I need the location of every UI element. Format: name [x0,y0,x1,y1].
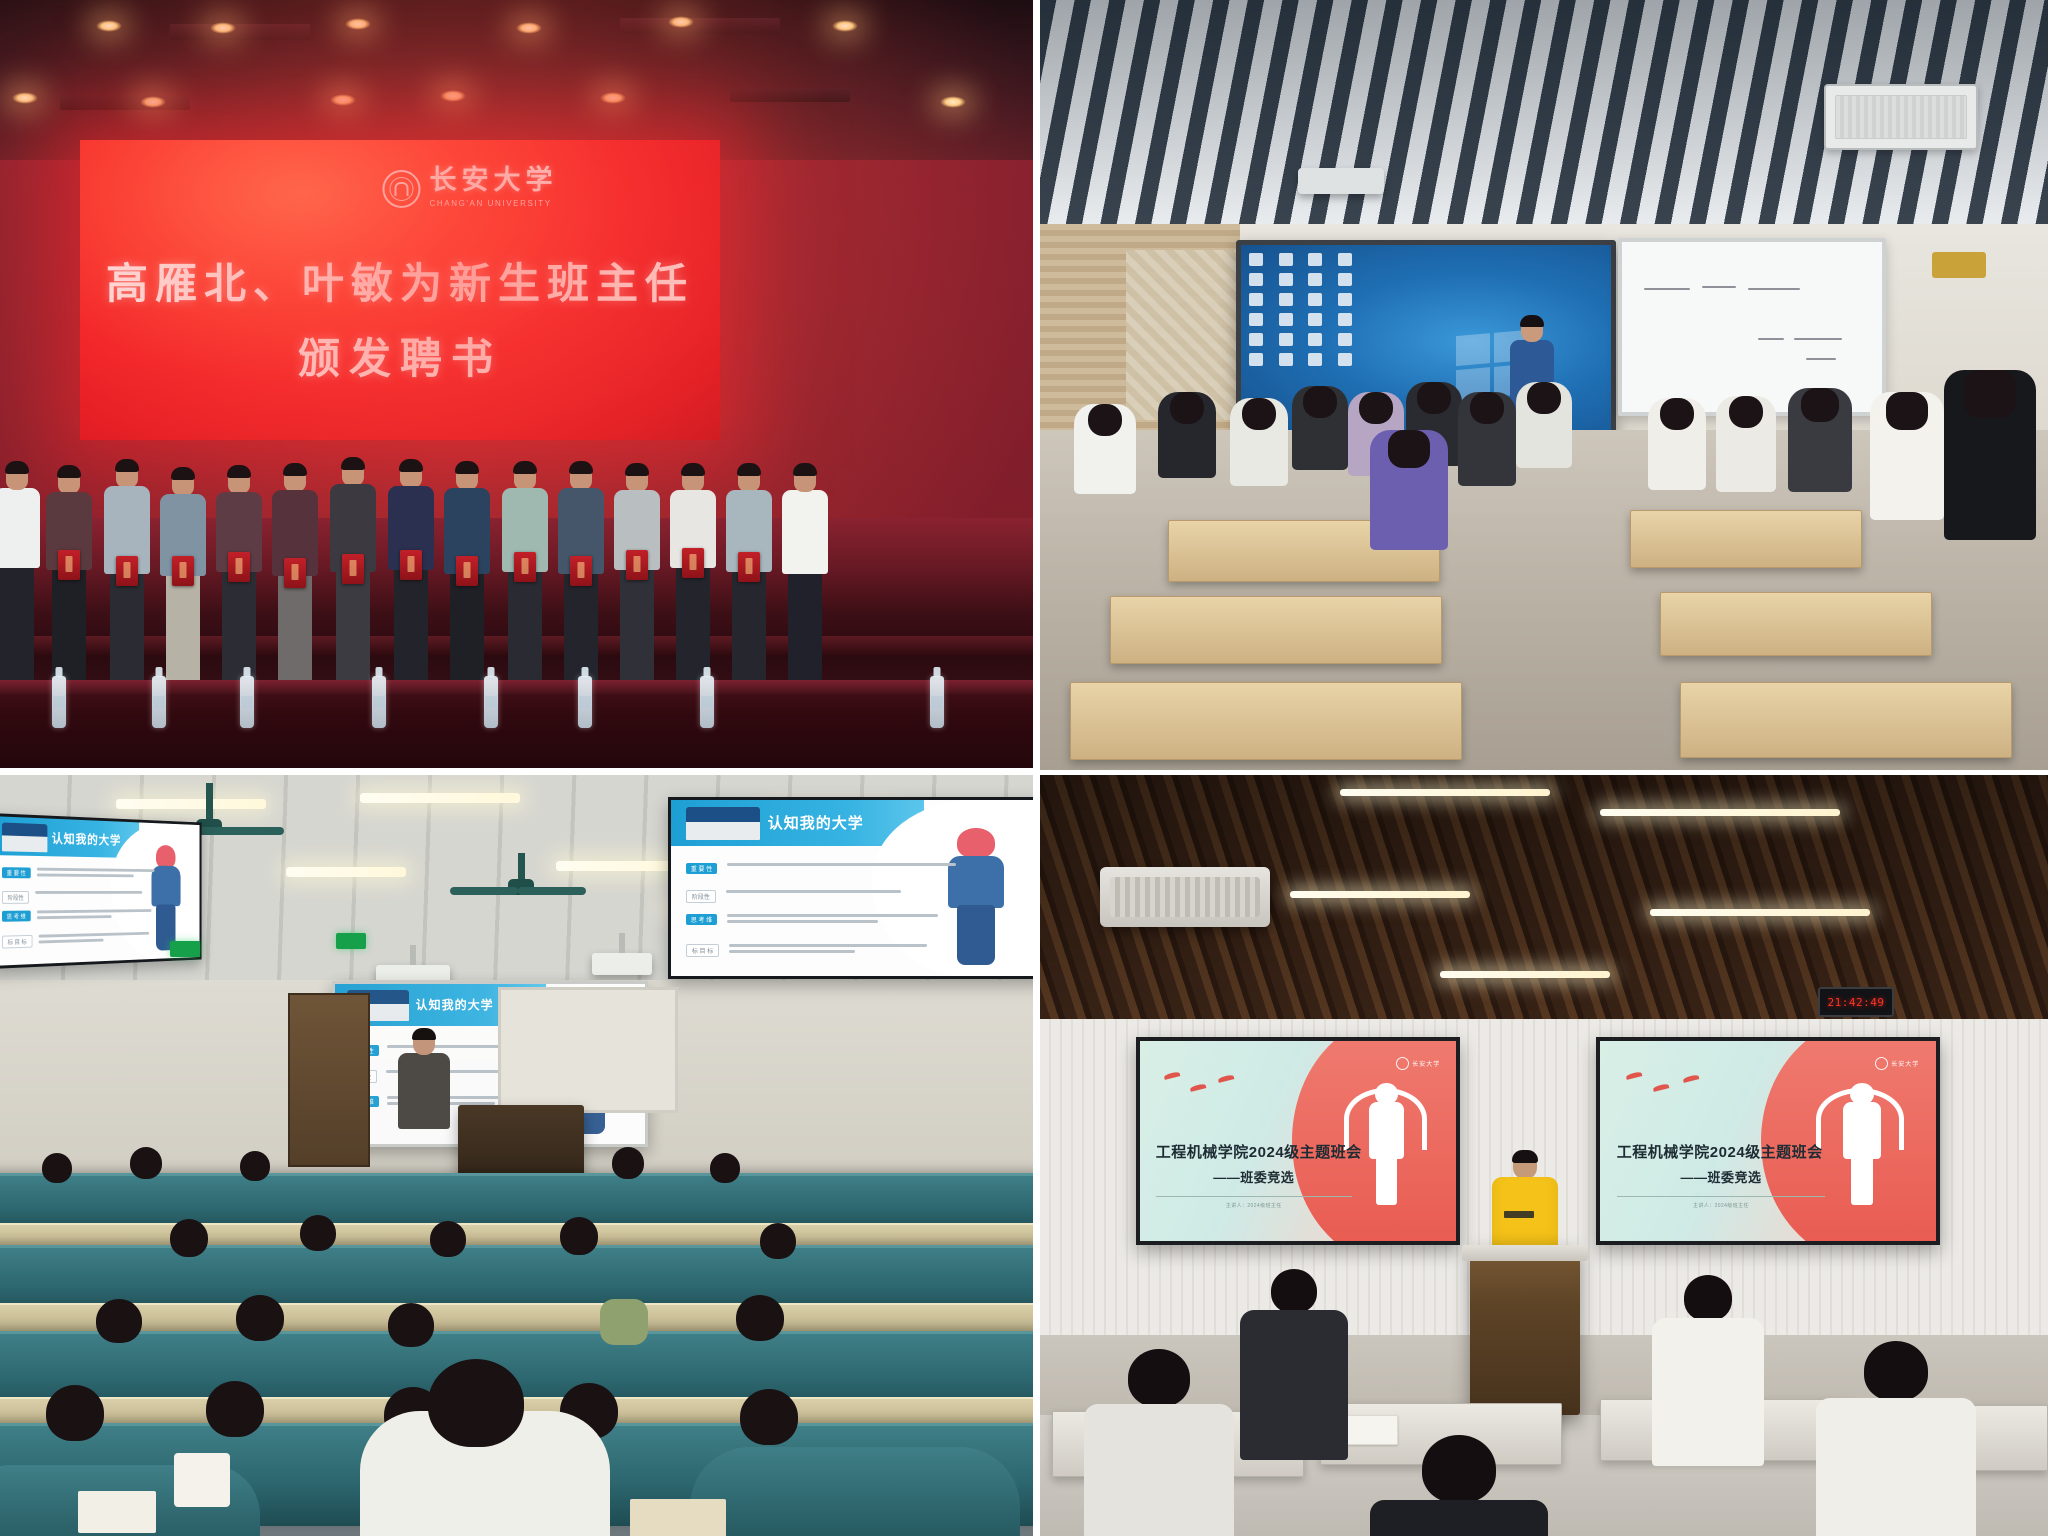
student-head [710,1153,740,1183]
person [46,468,92,680]
student-head [430,1221,466,1257]
ceiling-light [360,793,520,803]
slide-row: 思 考 维 [686,914,1028,926]
projection-screen-left: 长安大学 工程机械学院2024级主题班会 ——班委竞选 主讲人：2024级班主任 [1136,1037,1460,1245]
slide-title-line2: ——班委竞选 [1156,1167,1352,1186]
photo-panel-award-ceremony: 长安大学 CHANG'AN UNIVERSITY 高雁北、叶敏为新生班主任 颁发… [0,0,1033,768]
bird-icons [1624,1065,1738,1109]
ceiling-light [668,16,694,28]
student-desk [1110,596,1442,664]
photo-panel-lecture-hall: 认知我的大学 重 要 性 阶段性 思 考 维 标 目 标 [0,775,1033,1536]
ceiling-light [516,22,542,34]
student-head [96,1299,142,1343]
person [614,466,660,680]
slide-figure-illustration [1829,1081,1896,1205]
person [558,464,604,680]
ceiling-air-vent [1100,867,1270,927]
ceiling [0,0,1033,160]
slide-title: 认知我的大学 [52,828,121,848]
student [1458,392,1516,486]
air-conditioner [1824,84,1978,150]
student-head [736,1295,784,1341]
clock-time: 21:42:49 [1828,996,1885,1009]
graduation-cap-icon [686,807,760,840]
water-bottle [240,676,254,728]
graduation-cap-icon [2,822,47,851]
tissue-box [174,1453,230,1507]
student-torso [600,1299,648,1345]
student-head [130,1147,162,1179]
ceiling-strip-light [1650,909,1870,916]
student-head [46,1385,104,1441]
slide-title: 认知我的大学 [768,812,864,833]
student [1648,398,1706,490]
photo-collage: 长安大学 CHANG'AN UNIVERSITY 高雁北、叶敏为新生班主任 颁发… [0,0,2048,1536]
water-bottle [52,676,66,728]
slide-row-tag: 思 考 维 [686,914,717,925]
led-screen: 长安大学 CHANG'AN UNIVERSITY 高雁北、叶敏为新生班主任 颁发… [80,140,720,440]
slide-row-tag: 重 要 性 [686,863,717,874]
audience-member [1240,1269,1348,1460]
slide-row-tag: 标 目 标 [2,935,32,949]
university-seal-icon [1875,1057,1888,1070]
student [1788,388,1852,492]
ceiling-strip-light [1440,971,1610,978]
ceiling-light [12,92,38,104]
slide-title-block: 工程机械学院2024级主题班会 ——班委竞选 主讲人：2024级班主任 [1617,1141,1825,1209]
student-head [236,1295,284,1341]
university-seal-icon [1396,1057,1409,1070]
audience-member [1370,1435,1548,1536]
slide-rule [1156,1196,1352,1197]
slide-row-tag: 阶段性 [686,890,716,903]
ceiling-light [345,18,371,30]
ceiling-panel [170,24,310,40]
student-desk [1660,592,1932,656]
slide-title: 认知我的大学 [416,996,494,1013]
slide-row-tag: 重 要 性 [2,867,30,878]
ceiling-light [140,96,166,108]
university-seal-icon [383,170,421,208]
ceiling-light [600,92,626,104]
slide-logo-text: 长安大学 [1412,1059,1440,1068]
water-bottle [930,676,944,728]
digital-wall-clock: 21:42:49 [1818,987,1894,1017]
ceiling-strip-light [1600,809,1840,816]
slide-figure-illustration [1355,1081,1418,1205]
student [1370,430,1448,550]
lectern [1470,1245,1580,1415]
desktop-icons[interactable] [1249,253,1361,366]
person [444,464,490,680]
student-head [388,1303,434,1347]
student-head [300,1215,336,1251]
ceremony-title-line2: 颁发聘书 [80,325,720,386]
ceiling-fan [508,853,534,895]
student-head [560,1217,598,1255]
person [272,466,318,680]
slide-row-tag: 思 考 维 [2,910,30,921]
slide-title-line1: 工程机械学院2024级主题班会 [1156,1141,1352,1162]
projection-screen-right: 长安大学 工程机械学院2024级主题班会 ——班委竞选 主讲人：2024级班主任 [1596,1037,1940,1245]
slide-title-block: 工程机械学院2024级主题班会 ——班委竞选 主讲人：2024级班主任 [1156,1141,1352,1209]
exit-sign [170,941,200,957]
student-head [170,1219,208,1257]
display-panel-right: 认知我的大学 重 要 性 阶段性 思 考 维 标 目 标 [668,797,1033,979]
notebook [630,1499,726,1536]
shirt-print [1504,1211,1534,1218]
student [1230,398,1288,486]
student-head [612,1147,644,1179]
student-desk [1070,682,1462,760]
student-head [240,1151,270,1181]
person [502,464,548,680]
person [782,466,828,680]
student [1870,392,1944,520]
class-meeting-slide: 长安大学 工程机械学院2024级主题班会 ——班委竞选 主讲人：2024级班主任 [1140,1041,1456,1241]
ceiling-light [210,22,236,34]
presenter [1492,1153,1558,1249]
slide-title-line1: 工程机械学院2024级主题班会 [1617,1141,1825,1162]
student-head [740,1389,798,1445]
ceremony-title: 高雁北、叶敏为新生班主任 颁发聘书 [80,250,720,386]
person [104,462,150,680]
ceiling-vent [730,88,850,102]
student [1292,386,1348,470]
ceiling-light [286,867,406,877]
university-name-cn: 长安大学 [430,165,558,195]
whiteboard [1618,238,1886,416]
student-head [42,1153,72,1183]
person [726,466,772,680]
university-logo: 长安大学 [1875,1057,1919,1070]
person [216,468,262,680]
slide-row: 阶段性 [686,890,1028,903]
audience-member [1084,1349,1234,1536]
ceiling-light [556,861,686,871]
student [1516,382,1572,468]
water-bottle [372,676,386,728]
water-bottle [484,676,498,728]
slide-footnote: 主讲人：2024级班主任 [1156,1202,1352,1209]
ceiling-vent [60,96,190,110]
whiteboard [498,987,678,1113]
water-bottle [578,676,592,728]
audience-member [1652,1275,1764,1466]
student [1074,404,1136,494]
ceiling-light [940,96,966,108]
foreground-student-head [428,1359,524,1447]
slide-row: 阶段性 [2,891,192,904]
ceiling-strip-light [1340,789,1550,796]
ceiling-light [116,799,266,809]
ceiling-light [440,90,466,102]
student-head [206,1381,264,1437]
seat-foreground [690,1447,1020,1536]
ceiling-projector [592,953,652,975]
student [1944,370,2036,540]
person [160,470,206,680]
slide-row-tag: 阶段性 [2,891,29,904]
slide-row: 重 要 性 [2,867,192,880]
slide-rule [1617,1196,1825,1197]
person [388,462,434,680]
wall-speaker [1932,252,1986,278]
person [0,464,40,680]
class-meeting-slide: 长安大学 工程机械学院2024级主题班会 ——班委竞选 主讲人：2024级班主任 [1600,1041,1936,1241]
slide-row-tag: 标 目 标 [686,944,719,957]
photo-panel-class-meeting: 21:42:49 长安大学 工程机械学院2024级主题班会 ——班委竞选 [1040,775,2048,1536]
university-name-en: CHANG'AN UNIVERSITY [430,199,552,208]
ceiling-light [96,20,122,32]
water-bottle [700,676,714,728]
slide-row: 标 目 标 [686,944,1028,957]
student-head [760,1223,796,1259]
ceiling-light [832,20,858,32]
classroom-door[interactable] [288,993,370,1167]
ceiling-light [330,94,356,106]
university-logo: 长安大学 CHANG'AN UNIVERSITY [383,166,558,211]
presenter-shirt [1492,1177,1558,1249]
slide-logo-text: 长安大学 [1891,1059,1919,1068]
bird-icons [1162,1065,1269,1109]
ceiling-strip-light [1290,891,1470,898]
student-desk [1630,510,1862,568]
student [1716,396,1776,492]
water-bottle [152,676,166,728]
presenter [398,1031,450,1129]
person [670,466,716,680]
slide-footnote: 主讲人：2024级班主任 [1617,1202,1825,1209]
person [330,460,376,680]
ceiling-panel [620,18,780,34]
ceremony-title-line1: 高雁北、叶敏为新生班主任 [80,250,720,311]
slide-row: 重 要 性 [686,863,1028,874]
student-desk [1680,682,2012,758]
university-logo: 长安大学 [1396,1057,1440,1070]
student [1158,392,1216,478]
notebook [78,1491,156,1533]
audience-member [1816,1341,1976,1536]
slide-title-line2: ——班委竞选 [1617,1167,1825,1186]
ceiling-projector [1298,168,1384,194]
exit-sign [336,933,366,949]
photo-panel-classroom-lecture [1040,0,2048,770]
